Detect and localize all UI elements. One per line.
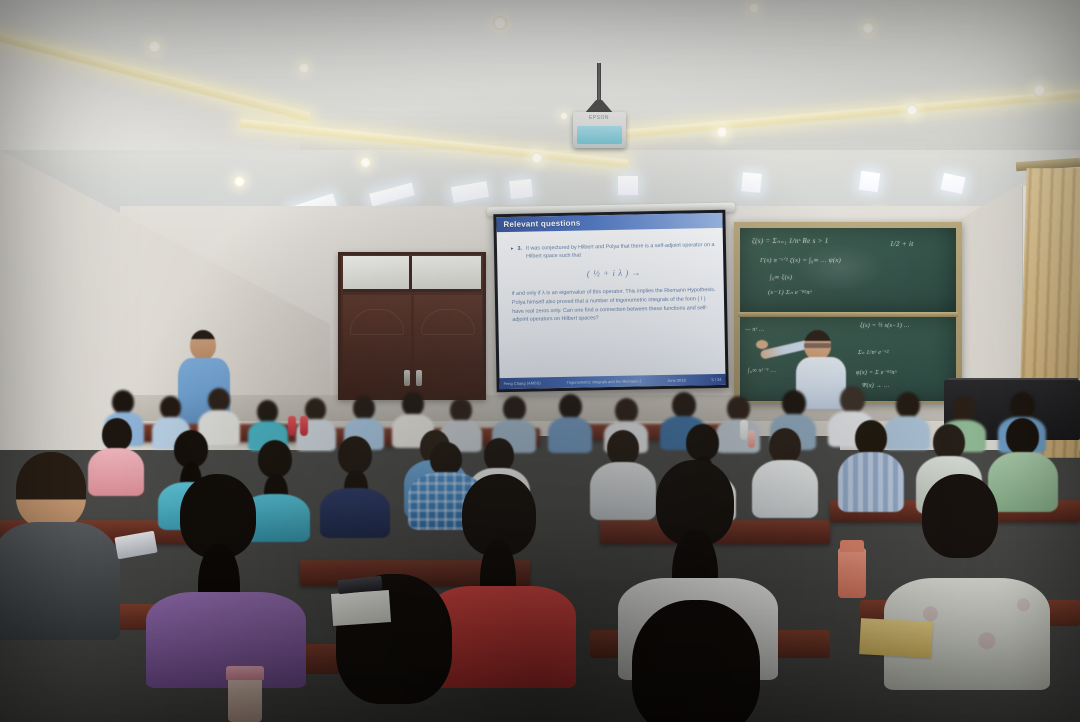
slide-bullet-number: 3. bbox=[517, 245, 522, 261]
person-head bbox=[338, 436, 372, 474]
person-head bbox=[102, 418, 132, 451]
lecture-hall-photo: EPSON Relevant questions ▸ 3. It was con… bbox=[0, 0, 1080, 722]
slide-bullet-text: It was conjectured by Hilbert and Polya … bbox=[526, 241, 716, 261]
person-head bbox=[727, 396, 750, 421]
person-head bbox=[160, 396, 181, 419]
person-head bbox=[672, 392, 696, 418]
person-head bbox=[559, 394, 582, 419]
door-panel-molding bbox=[421, 309, 475, 335]
projection-screen: Relevant questions ▸ 3. It was conjectur… bbox=[493, 210, 728, 392]
person-torso bbox=[548, 417, 592, 453]
bullet-marker-icon: ▸ bbox=[511, 245, 514, 261]
door-handle[interactable] bbox=[404, 370, 410, 386]
downlight-icon bbox=[560, 112, 568, 120]
person-head bbox=[952, 396, 976, 422]
slide-footer-author: Feng Chang (AMSS) bbox=[504, 380, 541, 386]
chalk-line: Γ(s) π⁻ˢᐟ² ζ(s) = ∫₀∞ … ψ(x) bbox=[760, 256, 841, 264]
water-bottle[interactable] bbox=[740, 420, 748, 440]
person-head bbox=[402, 392, 424, 416]
person-head bbox=[305, 398, 326, 421]
person-head bbox=[769, 428, 801, 464]
cola-bottle[interactable] bbox=[288, 416, 296, 436]
slide-paragraph: if and only if λ is an eigenvalue of thi… bbox=[512, 286, 718, 325]
door-leaf-left[interactable] bbox=[343, 295, 411, 398]
person-head bbox=[615, 398, 638, 423]
person-head bbox=[430, 442, 462, 476]
slide-footer-page: 5 / 24 bbox=[711, 377, 721, 382]
downlight-icon bbox=[234, 176, 245, 187]
slide-bullet: ▸ 3. It was conjectured by Hilbert and P… bbox=[511, 241, 716, 261]
slide-title: Relevant questions bbox=[496, 219, 580, 230]
downlight-icon bbox=[906, 104, 918, 116]
person-torso bbox=[0, 522, 120, 640]
downlight-icon bbox=[298, 62, 310, 74]
chalk-fraction: 1/2 + it bbox=[890, 240, 913, 248]
paper-sheet[interactable] bbox=[331, 590, 391, 626]
door-handle[interactable] bbox=[416, 370, 422, 386]
audience-member-foreground bbox=[296, 574, 496, 722]
chalk-line: (s−1) Σₙ e⁻ⁿ²πˣ bbox=[768, 288, 812, 296]
downlight-icon bbox=[493, 16, 507, 30]
downlight-icon bbox=[716, 126, 728, 138]
slide-footer-title: Trigonometric integrals and the Riemann … bbox=[566, 378, 641, 384]
person-head bbox=[257, 400, 278, 423]
door-transom-window bbox=[343, 256, 481, 292]
panel-light bbox=[618, 176, 638, 195]
person-head bbox=[840, 386, 865, 413]
projector-brand-label: EPSON bbox=[579, 115, 619, 123]
projector-mount-rod bbox=[597, 63, 601, 103]
panel-light bbox=[741, 172, 762, 193]
door-leaf-right[interactable] bbox=[414, 295, 482, 398]
chalk-line: ζ(s) = Σₙ₌₁ 1/nˢ Re s > 1 bbox=[752, 237, 829, 245]
panel-light bbox=[509, 179, 533, 199]
blackboard-upper-panel[interactable]: ζ(s) = Σₙ₌₁ 1/nˢ Re s > 1 Γ(s) π⁻ˢᐟ² ζ(s… bbox=[740, 228, 956, 312]
panel-light bbox=[859, 171, 880, 192]
person-head bbox=[484, 438, 514, 472]
chalk-line: ξ(s) = ½ s(s−1) … bbox=[860, 323, 910, 329]
downlight-icon bbox=[148, 40, 161, 53]
person-head bbox=[1006, 418, 1039, 455]
person-head bbox=[450, 398, 472, 422]
person-torso bbox=[320, 488, 390, 538]
audience-member bbox=[320, 436, 390, 534]
audience-member-foreground bbox=[146, 474, 306, 674]
person-head bbox=[258, 440, 292, 478]
bottle-cap[interactable] bbox=[226, 666, 264, 680]
cola-bottle[interactable] bbox=[300, 416, 308, 436]
slide-formula: ( ½ + i λ ) → bbox=[511, 266, 716, 280]
audience-member-foreground bbox=[586, 600, 806, 722]
glasses-icon bbox=[804, 343, 831, 348]
downlight-icon bbox=[748, 2, 760, 14]
bottle-cap[interactable] bbox=[840, 540, 864, 552]
downlight-icon bbox=[531, 152, 543, 164]
downlight-icon bbox=[1033, 84, 1046, 97]
audience-member-foreground bbox=[0, 452, 120, 632]
sports-bottle[interactable] bbox=[838, 548, 866, 598]
slide-body: ▸ 3. It was conjectured by Hilbert and P… bbox=[511, 241, 718, 325]
person-head bbox=[112, 390, 134, 414]
slide-footer: Feng Chang (AMSS) Trigonometric integral… bbox=[499, 374, 725, 389]
projector-lens bbox=[577, 126, 622, 144]
person-head bbox=[922, 474, 998, 558]
person-head bbox=[353, 396, 375, 420]
person-head bbox=[1010, 392, 1035, 419]
person-head bbox=[190, 330, 216, 360]
chalk-smudge bbox=[795, 244, 885, 292]
slide-title-bar: Relevant questions bbox=[496, 213, 722, 232]
person-head bbox=[503, 396, 526, 421]
door-panel-molding bbox=[350, 309, 404, 335]
person-head bbox=[208, 388, 230, 412]
person-head bbox=[855, 420, 887, 456]
notebook[interactable] bbox=[859, 618, 933, 658]
person-head bbox=[782, 390, 806, 416]
downlight-icon bbox=[360, 157, 371, 168]
lecturer-hand bbox=[756, 340, 768, 349]
person-head bbox=[16, 452, 86, 528]
downlight-icon bbox=[862, 22, 874, 34]
person-head bbox=[896, 392, 920, 418]
audience-member bbox=[548, 394, 592, 450]
presentation-slide: Relevant questions ▸ 3. It was conjectur… bbox=[496, 213, 725, 389]
person-head bbox=[632, 600, 760, 722]
chalk-line: ∫₀∞ ξ(s) bbox=[770, 274, 792, 281]
person-head bbox=[933, 424, 965, 460]
slide-footer-date: June 2019 bbox=[667, 378, 686, 383]
